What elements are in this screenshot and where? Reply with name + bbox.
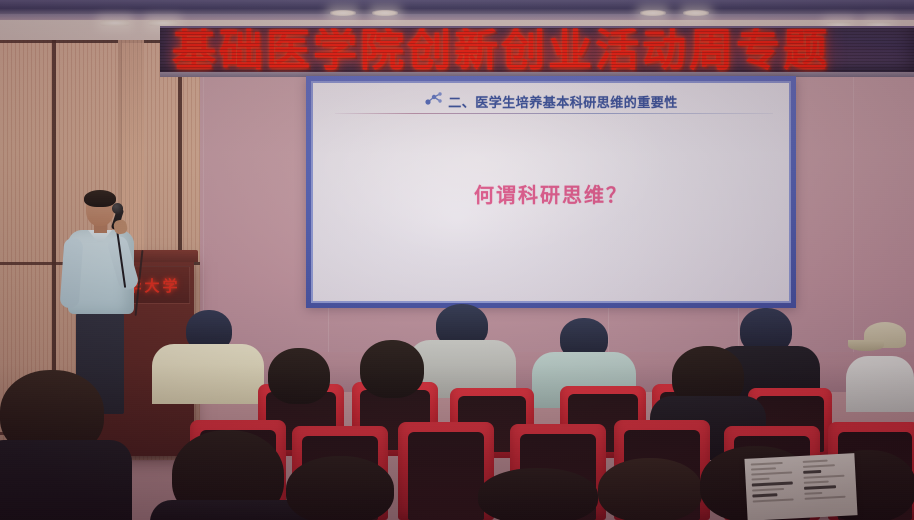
attendee-head xyxy=(360,340,424,398)
banner-text: 基础医学院创新创业活动周专题 xyxy=(172,26,914,76)
attendee-head xyxy=(598,458,702,520)
attendee-head xyxy=(268,348,330,404)
slide-body: 何谓科研思维？ xyxy=(313,179,789,208)
handout-line xyxy=(751,462,783,466)
handout-line xyxy=(751,471,792,475)
attendee-shoulders xyxy=(846,356,914,412)
handout-line xyxy=(804,481,829,484)
ceiling-light xyxy=(683,10,709,16)
presentation-slide: 二、医学生培养基本科研思维的重要性 何谓科研思维？ xyxy=(313,83,789,301)
slide-title-row: 二、医学生培养基本科研思维的重要性 xyxy=(313,91,789,112)
handout-line xyxy=(803,460,828,463)
handout-line xyxy=(752,481,793,486)
handout-line xyxy=(753,498,794,502)
ceiling-light xyxy=(640,10,666,16)
ceiling-light xyxy=(100,20,130,26)
slide-title-divider xyxy=(335,113,773,114)
handout-line xyxy=(805,496,846,500)
handout-line xyxy=(804,485,836,490)
handout-column-left xyxy=(751,461,800,515)
attendee-shoulders xyxy=(150,500,310,520)
handout-line xyxy=(752,488,784,492)
handout-line xyxy=(752,493,777,497)
handout-line xyxy=(803,470,822,474)
handout-line xyxy=(803,464,835,468)
slide-title: 二、医学生培养基本科研思维的重要性 xyxy=(448,92,678,111)
handout-line xyxy=(751,467,776,470)
attendee-cap-brim xyxy=(848,340,884,351)
led-banner: 基础医学院创新创业活动周专题 xyxy=(160,26,914,76)
projection-screen: 二、医学生培养基本科研思维的重要性 何谓科研思维？ xyxy=(311,81,791,303)
microphone-head xyxy=(112,203,123,214)
handout-line xyxy=(803,475,844,479)
printed-program-sheet xyxy=(744,453,857,520)
lecture-hall-photo: 基础医学院创新创业活动周专题 二、医学生 xyxy=(0,0,914,520)
ceiling-light xyxy=(372,10,398,16)
handout-column-right xyxy=(803,458,852,512)
attendee-shoulders xyxy=(152,344,264,404)
handout-line xyxy=(751,478,769,481)
seat-inner xyxy=(408,432,484,520)
attendee-head xyxy=(478,468,598,520)
slide-body-text: 何谓科研思维？ xyxy=(474,183,628,207)
attendee-shoulders xyxy=(0,440,132,520)
podium-char: 学 xyxy=(163,275,178,296)
speaker-hair xyxy=(84,190,116,207)
attendee-head xyxy=(286,456,394,520)
molecule-node-icon xyxy=(424,91,444,112)
handout-line xyxy=(804,492,822,495)
ceiling-light xyxy=(330,10,356,16)
